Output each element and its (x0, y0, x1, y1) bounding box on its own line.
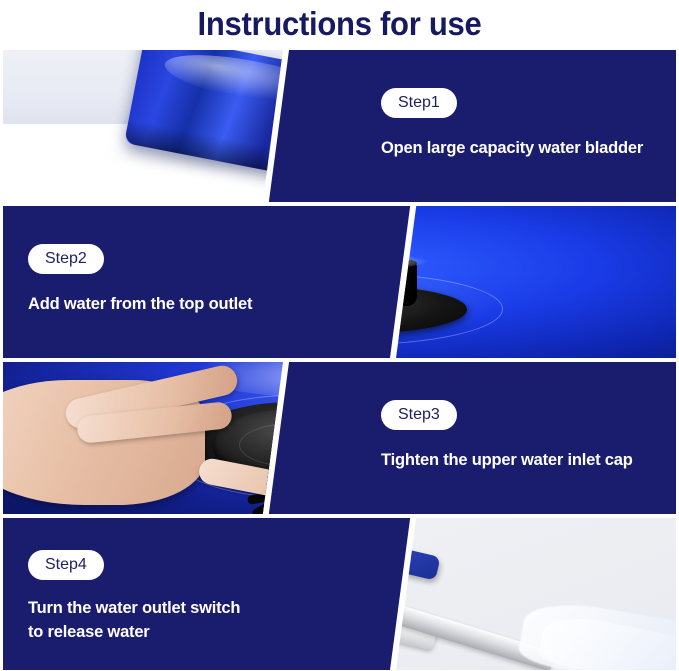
step2-badge: Step2 (28, 244, 104, 274)
step4-caption-line2: to release water (28, 621, 348, 645)
step4-badge: Step4 (28, 550, 104, 580)
step-row-2: Step2 Add water from the top outlet (3, 206, 676, 358)
step1-badge: Step1 (381, 88, 457, 118)
step4-caption: Turn the water outlet switch to release … (28, 597, 348, 645)
step-row-1: Step1 Open large capacity water bladder (3, 50, 676, 202)
step1-content: Step1 Open large capacity water bladder (381, 50, 671, 202)
step2-content: Step2 Add water from the top outlet (28, 206, 348, 358)
step3-caption: Tighten the upper water inlet cap (381, 449, 671, 473)
step-row-4: Step4 Turn the water outlet switch to re… (3, 518, 676, 670)
instructions-graphic: Instructions for use Step1 Open large ca… (0, 0, 679, 671)
page-title: Instructions for use (20, 0, 658, 48)
step2-caption: Add water from the top outlet (28, 293, 348, 317)
step1-caption: Open large capacity water bladder (381, 137, 671, 161)
step-row-3: Step3 Tighten the upper water inlet cap (3, 362, 676, 514)
step4-content: Step4 Turn the water outlet switch to re… (28, 518, 348, 670)
step3-content: Step3 Tighten the upper water inlet cap (381, 362, 671, 514)
step3-badge: Step3 (381, 400, 457, 430)
step4-caption-line1: Turn the water outlet switch (28, 597, 348, 621)
